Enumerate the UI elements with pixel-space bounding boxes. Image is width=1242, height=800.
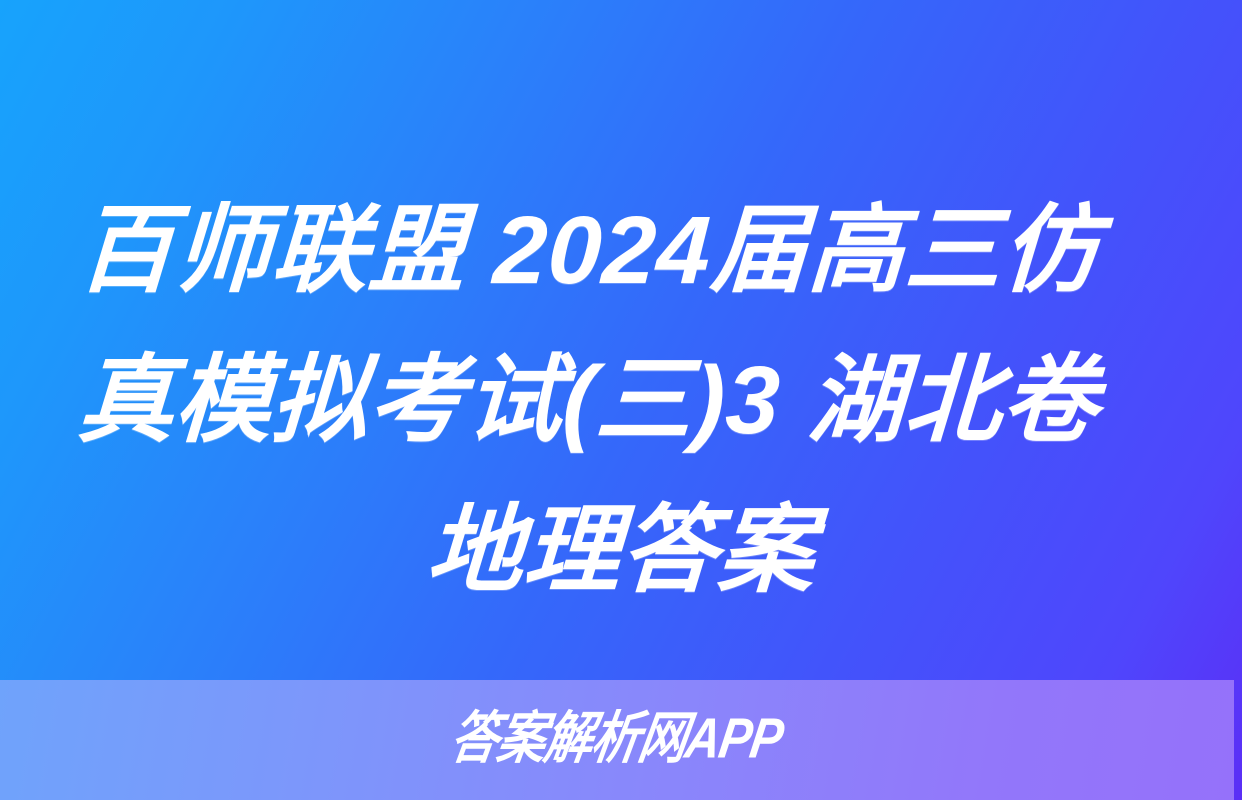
headline-line-3: 地理答案 [74,476,1168,626]
headline-block: 百师联盟 2024届高三仿 真模拟考试(三)3 湖北卷 地理答案 [0,176,1242,626]
poster-canvas: 百师联盟 2024届高三仿 真模拟考试(三)3 湖北卷 地理答案 答案解析网AP… [0,0,1242,800]
headline-line-2: 真模拟考试(三)3 湖北卷 [74,326,1168,476]
watermark-label: 答案解析网APP [446,712,786,769]
headline-line-1: 百师联盟 2024届高三仿 [74,176,1168,326]
watermark-band: 答案解析网APP [0,680,1234,800]
